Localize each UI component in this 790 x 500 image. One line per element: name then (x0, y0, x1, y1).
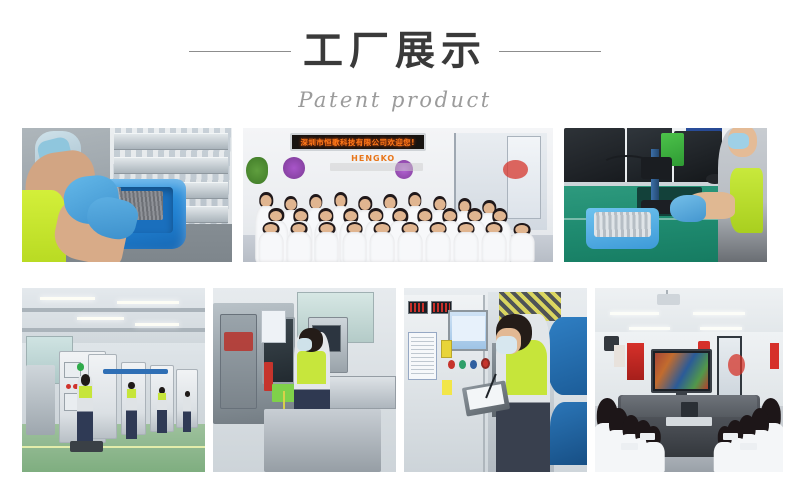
title-row: 工厂展示 (0, 24, 790, 78)
decorative-rule-left (189, 51, 291, 52)
photo-data-recording[interactable] (404, 288, 587, 472)
photo-scene (22, 288, 205, 472)
photo-gallery: HENGKO 深圳市恒歌科技有限公司欢迎您! (22, 128, 768, 472)
photo-scene (595, 288, 783, 472)
photo-scene (22, 128, 232, 262)
photo-company-group[interactable]: HENGKO 深圳市恒歌科技有限公司欢迎您! (243, 128, 553, 262)
page-subtitle: Patent product (0, 88, 790, 112)
photo-production-line[interactable] (22, 288, 205, 472)
hengko-wall-logo: HENGKO (339, 153, 407, 164)
photo-scene (404, 288, 587, 472)
section-header: 工厂展示 Patent product (0, 0, 790, 112)
photo-cnc-station[interactable] (213, 288, 396, 472)
photo-scene (564, 128, 767, 262)
led-welcome-banner: 深圳市恒歌科技有限公司欢迎您! (290, 133, 426, 150)
gallery-row-1: HENGKO 深圳市恒歌科技有限公司欢迎您! (22, 128, 768, 262)
photo-assembly-inspection[interactable] (22, 128, 232, 262)
led-banner-text: 深圳市恒歌科技有限公司欢迎您! (300, 137, 414, 148)
photo-scene: HENGKO 深圳市恒歌科技有限公司欢迎您! (243, 128, 553, 262)
photo-conference-meeting[interactable] (595, 288, 783, 472)
page-title: 工厂展示 (299, 31, 491, 71)
decorative-rule-right (499, 51, 601, 52)
photo-scene (213, 288, 396, 472)
photo-microscope-inspection[interactable] (564, 128, 767, 262)
gallery-row-2 (22, 288, 768, 472)
hengko-logo-text: HENGKO (351, 154, 395, 163)
